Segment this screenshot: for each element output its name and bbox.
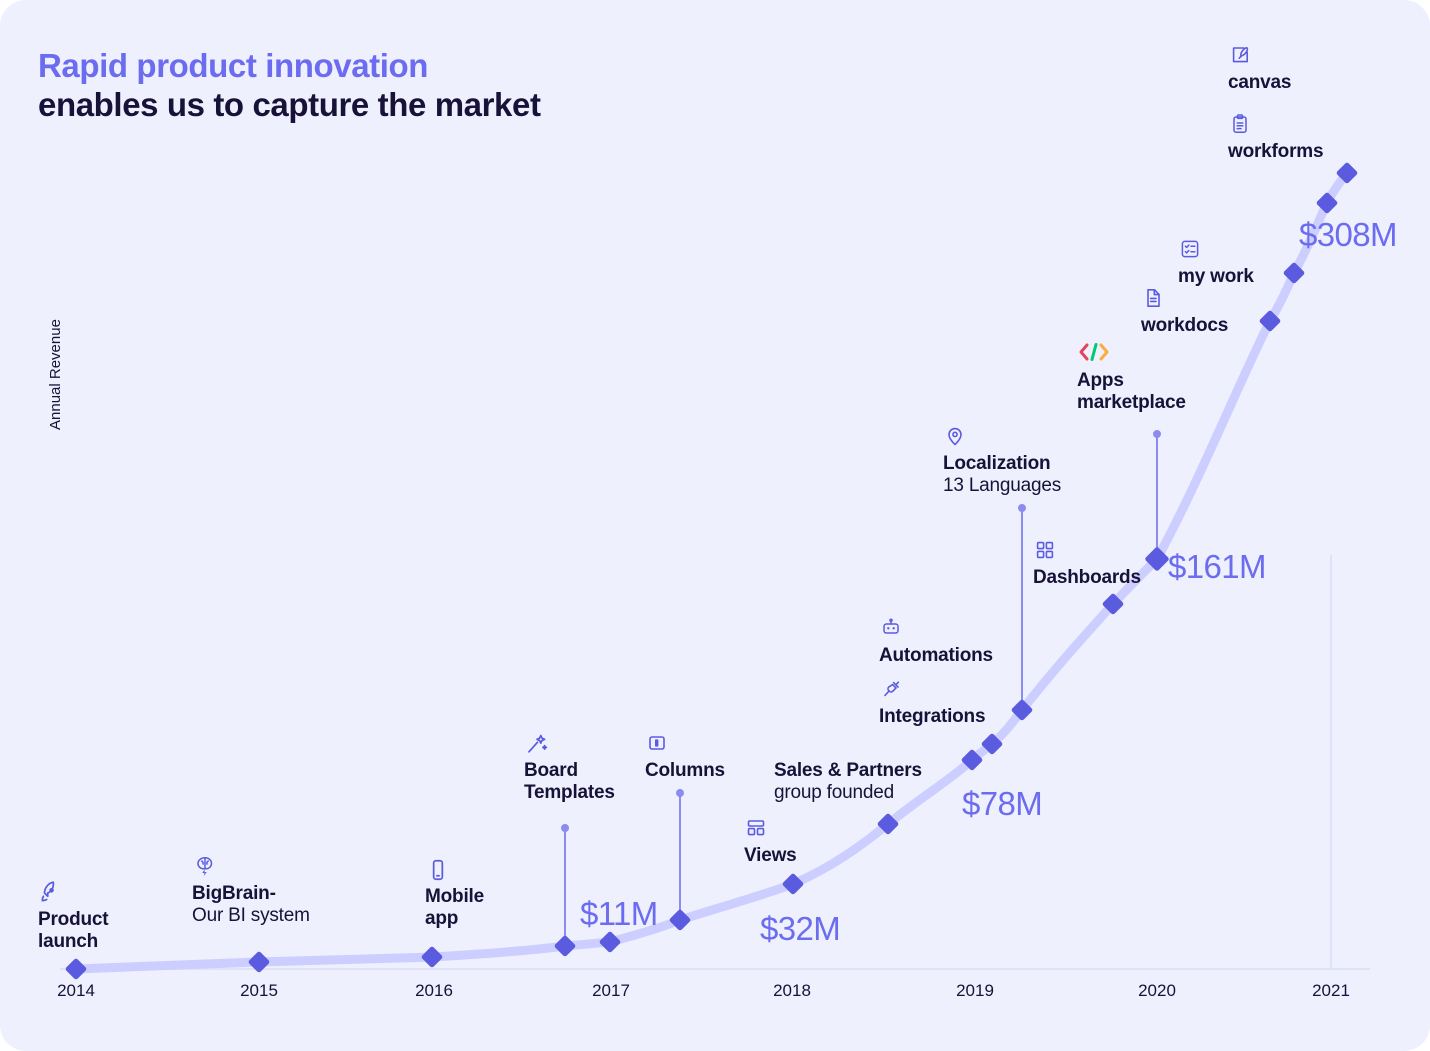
milestone-title: my work: [1178, 266, 1254, 288]
title-line-2: enables us to capture the market: [38, 86, 541, 125]
rocket-icon: [38, 880, 108, 906]
milestone-dashboards: Dashboards: [1033, 538, 1141, 589]
milestone-localization: Localization 13 Languages: [943, 424, 1061, 497]
milestone-title: Integrations: [879, 706, 985, 728]
milestone-canvas: canvas: [1228, 43, 1291, 94]
milestone-workforms: workforms: [1228, 112, 1323, 163]
location-pin-icon: [943, 424, 1061, 450]
leader-lines: [562, 431, 1160, 946]
milestone-title: Views: [744, 845, 797, 867]
revenue-label-2020: $161M: [1168, 548, 1266, 586]
milestone-title: workdocs: [1141, 315, 1228, 337]
milestone-mobile-app: Mobile app: [425, 857, 484, 930]
milestone-columns: Columns: [645, 731, 725, 782]
milestone-views: Views: [744, 816, 797, 867]
milestone-board-templates: Board Templates: [524, 731, 615, 804]
milestone-integrations: Integrations: [879, 677, 985, 728]
milestone-bigbrain: BigBrain- Our BI system: [192, 854, 310, 927]
milestone-title: BigBrain-: [192, 883, 310, 905]
gridline-2021: [1330, 555, 1332, 968]
views-icon: [744, 816, 797, 842]
milestone-title: Sales & Partners: [774, 760, 922, 782]
milestone-title: workforms: [1228, 141, 1323, 163]
revenue-label-2018: $32M: [760, 910, 840, 948]
milestone-title: Board Templates: [524, 760, 615, 804]
milestone-title: Automations: [879, 645, 993, 667]
clipboard-icon: [1228, 112, 1323, 138]
revenue-label-2017: $11M: [580, 895, 658, 933]
milestone-sales-partners: Sales & Partners group founded: [774, 760, 922, 804]
milestone-title: Columns: [645, 760, 725, 782]
x-tick-2021: 2021: [1312, 981, 1350, 1001]
milestone-product-launch: Product launch: [38, 880, 108, 953]
robot-icon: [879, 616, 993, 642]
milestone-subtitle: 13 Languages: [943, 475, 1061, 497]
dashboards-icon: [1033, 538, 1141, 564]
plug-icon: [879, 677, 985, 703]
milestone-title: Apps marketplace: [1077, 370, 1186, 414]
x-tick-2019: 2019: [956, 981, 994, 1001]
canvas-pen-icon: [1228, 43, 1291, 69]
chart-card: Rapid product innovation enables us to c…: [0, 0, 1430, 1051]
x-tick-2014: 2014: [57, 981, 95, 1001]
x-tick-2015: 2015: [240, 981, 278, 1001]
title-line-1: Rapid product innovation: [38, 47, 541, 86]
milestone-my-work: my work: [1178, 237, 1254, 288]
milestone-apps-marketplace: Apps marketplace: [1077, 341, 1186, 414]
columns-icon: [645, 731, 725, 757]
x-axis-line: [60, 968, 1370, 970]
checklist-icon: [1178, 237, 1254, 263]
milestone-title: Product launch: [38, 909, 108, 953]
milestone-title: canvas: [1228, 72, 1291, 94]
y-axis-label: Annual Revenue: [47, 319, 64, 430]
mobile-icon: [425, 857, 484, 883]
code-brackets-icon: [1077, 341, 1186, 367]
revenue-label-2019: $78M: [962, 785, 1042, 823]
milestone-subtitle: group founded: [774, 782, 922, 804]
milestone-subtitle: Our BI system: [192, 905, 310, 927]
brain-bolt-icon: [192, 854, 310, 880]
document-icon: [1141, 286, 1228, 312]
magic-wand-icon: [524, 731, 615, 757]
milestone-automations: Automations: [879, 616, 993, 667]
x-tick-2016: 2016: [415, 981, 453, 1001]
milestone-title: Localization: [943, 453, 1061, 475]
page-title: Rapid product innovation enables us to c…: [38, 47, 541, 125]
milestone-workdocs: workdocs: [1141, 286, 1228, 337]
milestone-title: Dashboards: [1033, 567, 1141, 589]
x-tick-2017: 2017: [592, 981, 630, 1001]
x-tick-2018: 2018: [773, 981, 811, 1001]
milestone-title: Mobile app: [425, 886, 484, 930]
x-tick-2020: 2020: [1138, 981, 1176, 1001]
revenue-label-2021: $308M: [1299, 216, 1397, 254]
